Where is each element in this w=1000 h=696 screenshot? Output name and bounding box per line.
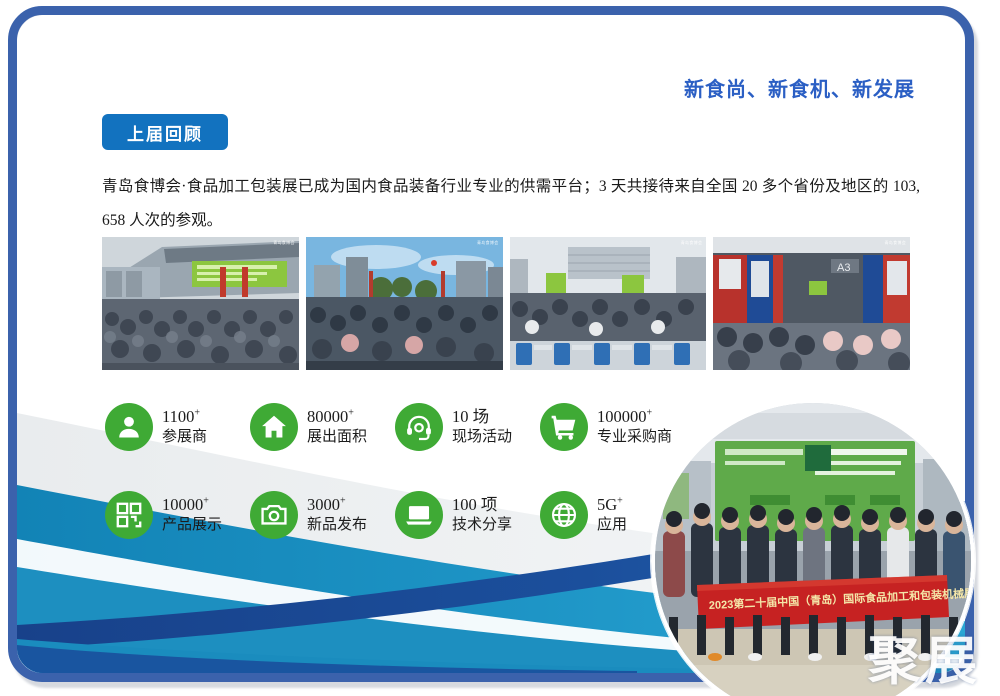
- stat-item: 100000+ 专业采购商: [540, 383, 685, 471]
- qrcode-icon: [105, 491, 153, 539]
- stat-number: 5G+: [597, 494, 627, 516]
- section-tag-label: 上届回顾: [127, 120, 203, 145]
- stat-number: 100 项: [452, 494, 512, 516]
- camera-icon: [250, 491, 298, 539]
- stat-label: 专业采购商: [597, 428, 672, 448]
- person-icon: [105, 403, 153, 451]
- cart-icon: [540, 403, 588, 451]
- site-logo: 聚展: [868, 636, 982, 688]
- stat-number: 100000+: [597, 406, 672, 428]
- section-tag-last-edition[interactable]: 上届回顾: [102, 114, 228, 150]
- photo-watermark: 青岛食博会: [477, 240, 499, 246]
- stat-number: 10 场: [452, 406, 512, 428]
- photo-indoor-booth-aisle[interactable]: A3 青岛食博会: [713, 237, 910, 370]
- stat-item: 1100+ 参展商: [105, 383, 250, 471]
- stat-item: 3000+ 新品发布: [250, 471, 395, 559]
- stat-item: 100 项 技术分享: [395, 471, 540, 559]
- photo-entry-gate-turnstiles[interactable]: 青岛食博会: [510, 237, 707, 370]
- stat-number: 10000+: [162, 494, 222, 516]
- stat-label: 参展商: [162, 428, 207, 448]
- stat-number: 1100+: [162, 406, 207, 428]
- globe-icon: [540, 491, 588, 539]
- stat-number: 80000+: [307, 406, 367, 428]
- stat-label: 应用: [597, 516, 627, 536]
- intro-paragraph: 青岛食博会·食品加工包装展已成为国内食品装备行业专业的供需平台；3 天共接待来自…: [102, 170, 920, 238]
- photo-watermark: 青岛食博会: [681, 240, 703, 246]
- stat-item: 80000+ 展出面积: [250, 383, 395, 471]
- home-icon: [250, 403, 298, 451]
- stat-label: 新品发布: [307, 516, 367, 536]
- stat-label: 产品展示: [162, 516, 222, 536]
- photo-outdoor-queue-crowd[interactable]: 青岛食博会: [306, 237, 503, 370]
- photo-strip: 青岛食博会: [102, 237, 910, 370]
- photo-watermark: 青岛食博会: [885, 240, 907, 246]
- stat-item: 10 场 现场活动: [395, 383, 540, 471]
- stat-label: 技术分享: [452, 516, 512, 536]
- headset-icon: [395, 403, 443, 451]
- stats-grid: 1100+ 参展商 80000+ 展出面积: [105, 383, 685, 559]
- stat-label: 展出面积: [307, 428, 367, 448]
- photo-exhibition-entrance-crowd[interactable]: 青岛食博会: [102, 237, 299, 370]
- stat-label: 现场活动: [452, 428, 512, 448]
- page-slogan: 新食尚、新食机、新发展: [684, 73, 915, 102]
- stat-number: 3000+: [307, 494, 367, 516]
- photo-watermark: 青岛食博会: [273, 240, 295, 246]
- laptop-icon: [395, 491, 443, 539]
- poster-page: 新食尚、新食机、新发展 上届回顾 青岛食博会·食品加工包装展已成为国内食品装备行…: [0, 0, 1000, 696]
- svg-text:A3: A3: [837, 262, 850, 274]
- stat-item: 10000+ 产品展示: [105, 471, 250, 559]
